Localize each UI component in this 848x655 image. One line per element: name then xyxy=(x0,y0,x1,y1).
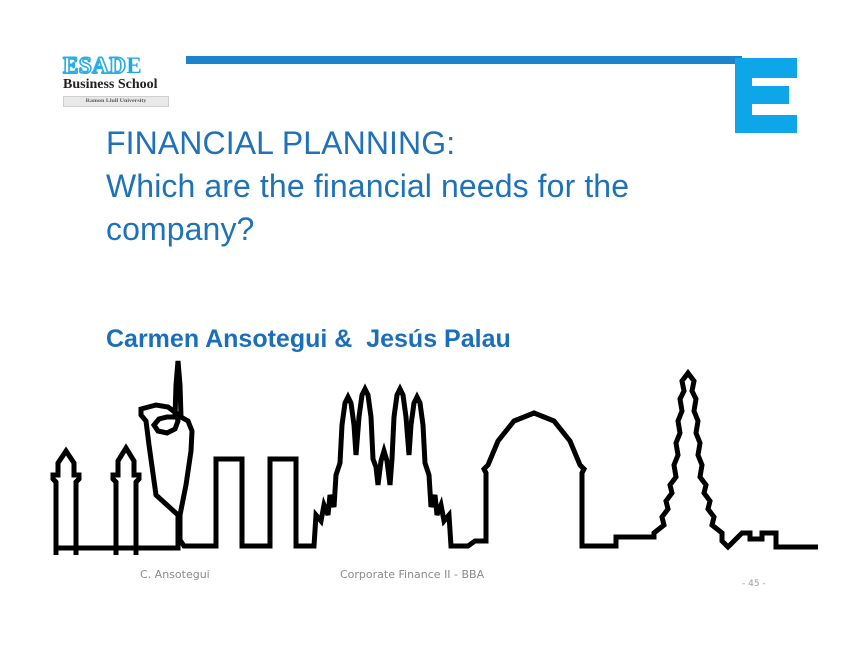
logo-wordmark-solid: E xyxy=(126,53,142,78)
header-rule xyxy=(186,56,742,64)
skyline-svg xyxy=(28,355,818,555)
logo-tagline-bar: Ramon Llull University xyxy=(63,96,169,107)
skyline-outline xyxy=(53,361,818,555)
title-line-2: Which are the financial needs for the xyxy=(106,165,786,208)
esade-logo: ESADE Business School Ramon Llull Univer… xyxy=(63,56,171,104)
footer-course: Corporate Finance II - BBA xyxy=(340,568,484,582)
brand-e-top-arm xyxy=(735,58,797,78)
title-line-1: FINANCIAL PLANNING: xyxy=(106,122,786,165)
page-title: FINANCIAL PLANNING: Which are the financ… xyxy=(106,122,786,251)
logo-subtitle: Business School xyxy=(63,77,171,93)
brand-e-middle-arm xyxy=(735,86,789,104)
logo-wordmark: ESADE xyxy=(63,56,171,76)
barcelona-skyline-illustration xyxy=(28,355,818,555)
title-line-3: company? xyxy=(106,208,786,251)
logo-tagline-text: Ramon Llull University xyxy=(64,97,168,105)
slide-canvas: ESADE Business School Ramon Llull Univer… xyxy=(0,0,848,655)
footer-page-number: - 45 - xyxy=(742,577,766,591)
logo-wordmark-hollow: ESAD xyxy=(63,53,126,78)
authors-line: Carmen Ansotegui & Jesús Palau xyxy=(106,324,511,354)
footer-author: C. Ansotegui xyxy=(140,568,210,582)
